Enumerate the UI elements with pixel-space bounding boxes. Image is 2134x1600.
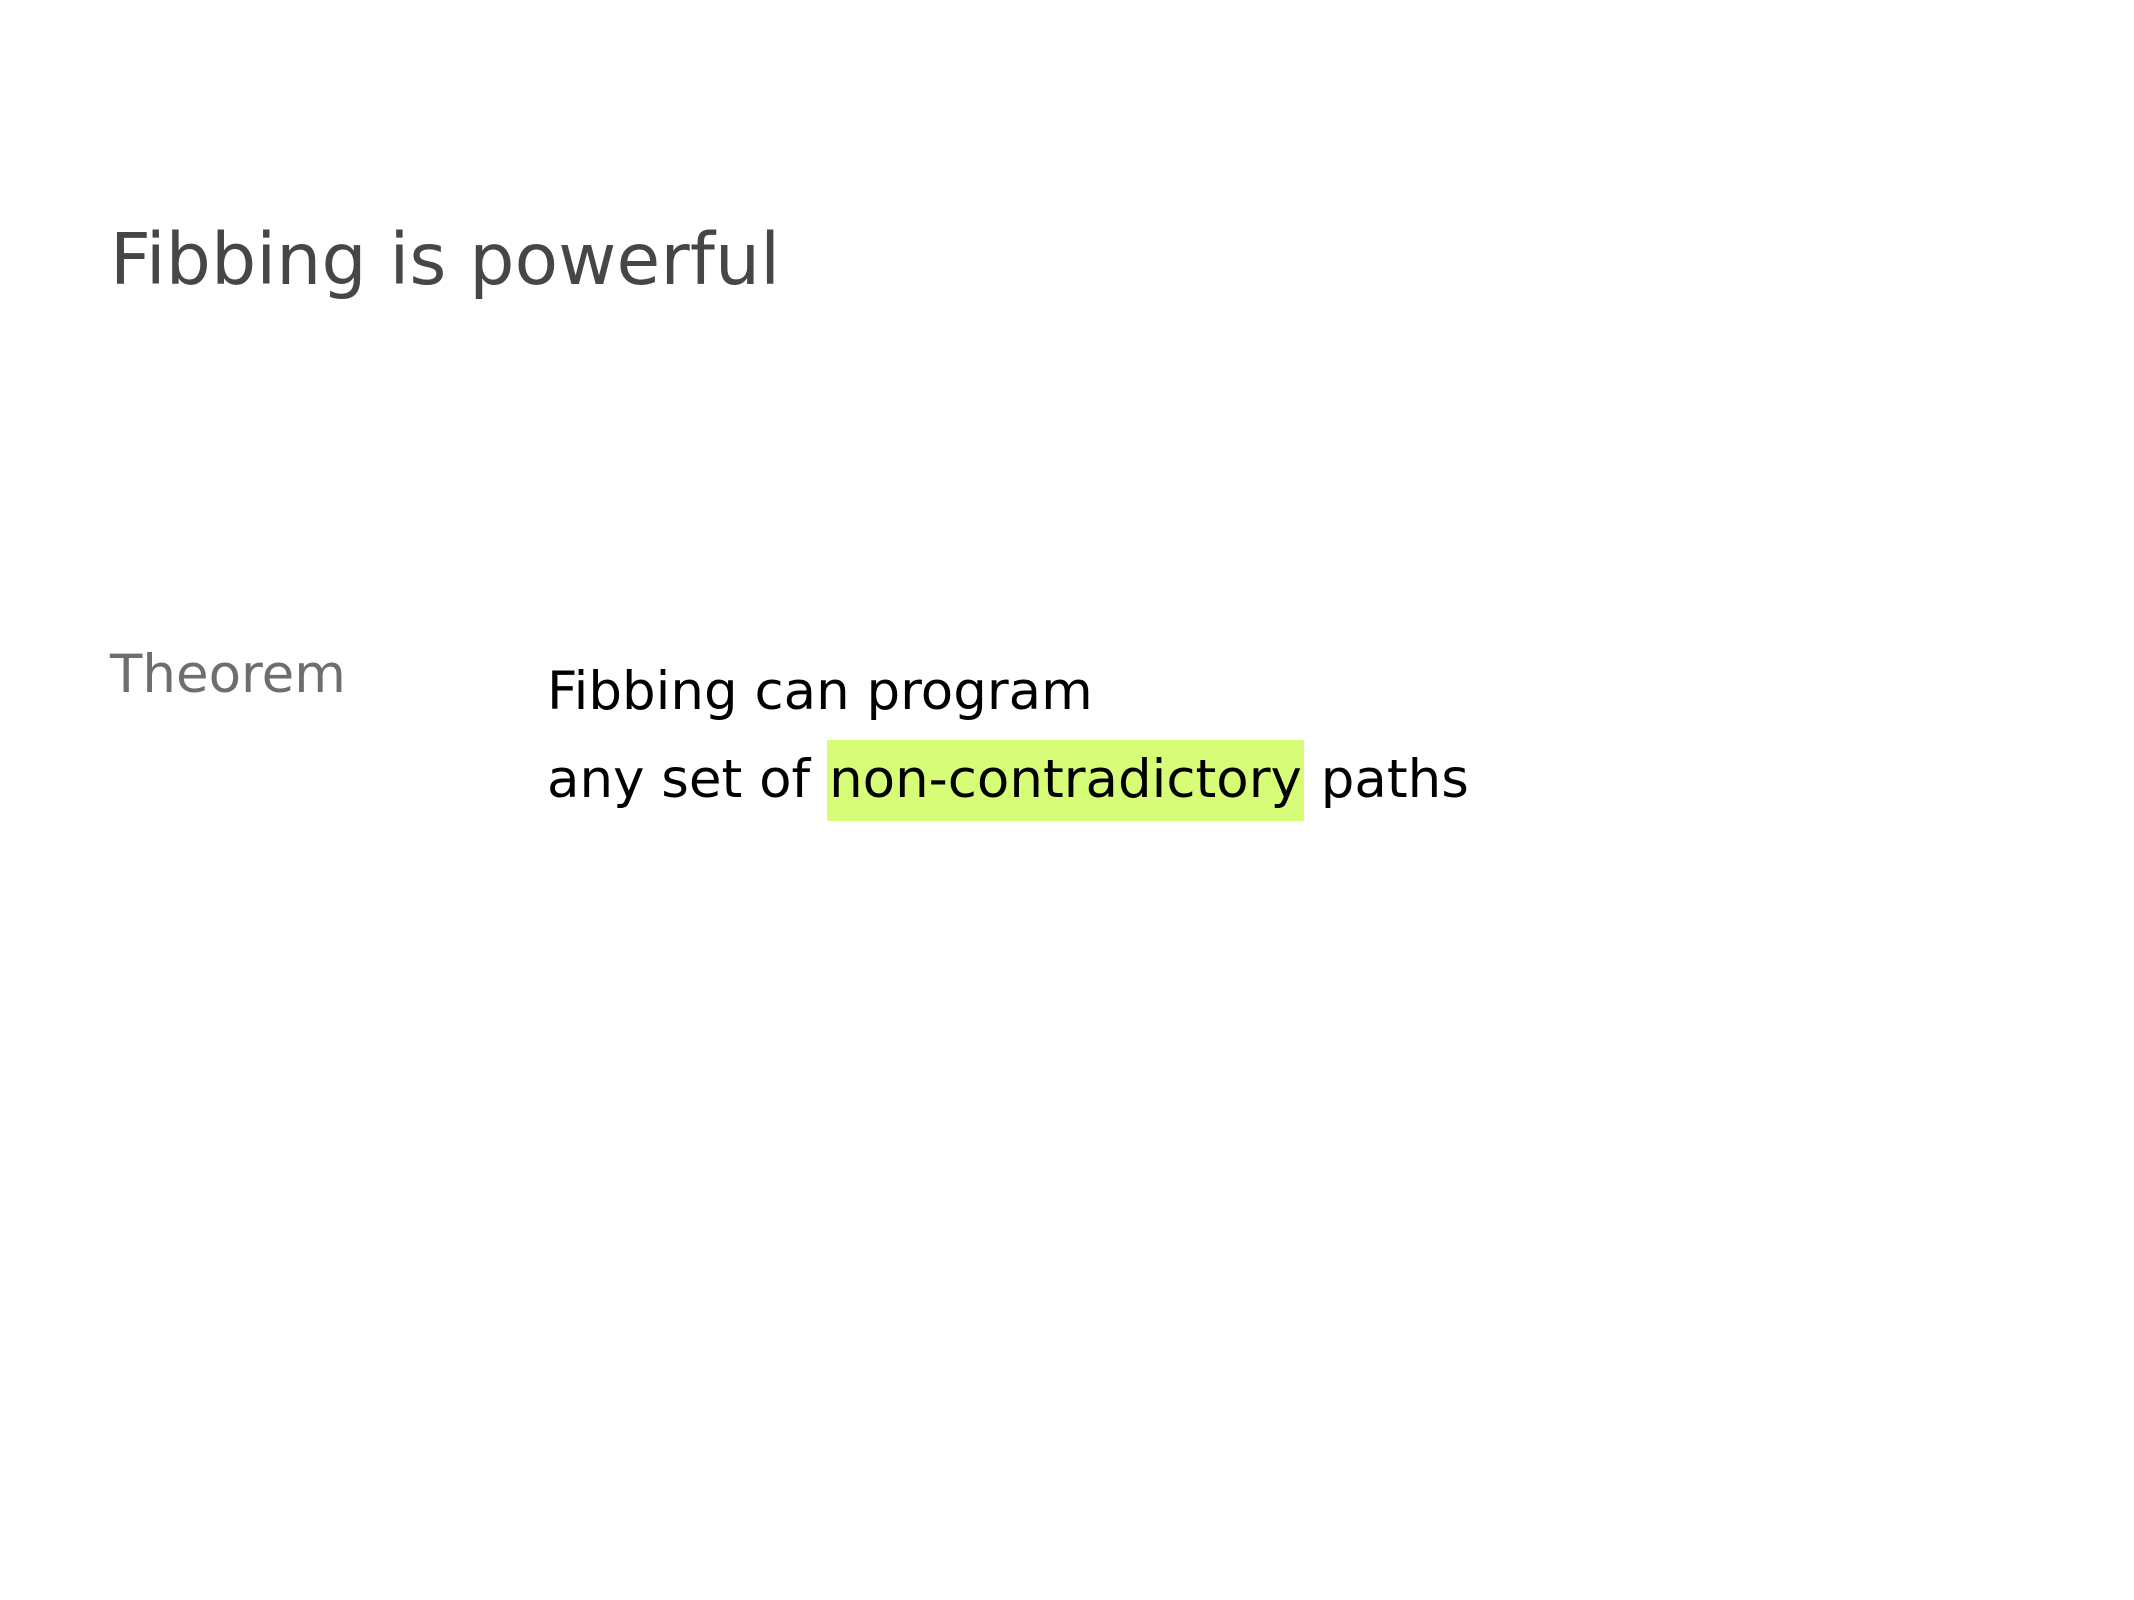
highlighted-term: non-contradictory	[827, 740, 1304, 821]
theorem-label: Theorem	[110, 648, 346, 701]
theorem-statement-line-2-prefix: any set of	[547, 749, 827, 810]
theorem-statement-line-2: any set of non-contradictory paths	[547, 736, 1469, 824]
presentation-slide: Fibbing is powerful Theorem Fibbing can …	[0, 0, 2134, 1600]
theorem-statement-line-1: Fibbing can program	[547, 648, 1469, 736]
page-title: Fibbing is powerful	[110, 224, 780, 295]
theorem-statement-line-2-suffix: paths	[1304, 749, 1469, 810]
theorem-statement: Fibbing can program any set of non-contr…	[547, 648, 1469, 824]
